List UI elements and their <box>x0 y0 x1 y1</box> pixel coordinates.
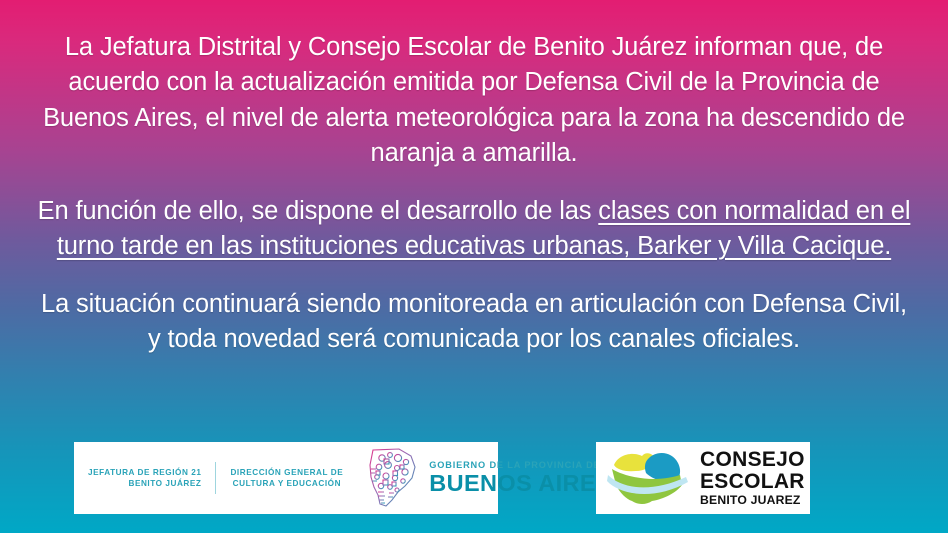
gobierno-pba-logo: GOBIERNO DE LA PROVINCIA DE BUENOS AIRES <box>365 447 612 509</box>
logo-strip: JEFATURA DE REGIÓN 21 BENITO JUÁREZ DIRE… <box>0 433 948 533</box>
consejo-escolar-emblem-icon <box>602 449 694 507</box>
jefatura-line-2: BENITO JUÁREZ <box>88 478 201 489</box>
direccion-general-text: DIRECCIÓN GENERAL DE CULTURA Y EDUCACIÓN <box>216 467 343 489</box>
direccion-line-2: CULTURA Y EDUCACIÓN <box>230 478 343 489</box>
consejo-line-2: ESCOLAR <box>700 471 805 492</box>
message-block: La Jefatura Distrital y Consejo Escolar … <box>0 30 948 358</box>
jefatura-region-text: JEFATURA DE REGIÓN 21 BENITO JUÁREZ <box>88 467 215 489</box>
consejo-line-1: CONSEJO <box>700 449 805 470</box>
provincia-name: BUENOS AIRES <box>429 472 612 496</box>
direccion-line-1: DIRECCIÓN GENERAL DE <box>230 467 343 478</box>
consejo-escolar-text: CONSEJO ESCOLAR BENITO JUAREZ <box>700 449 805 506</box>
gobierno-pba-text: GOBIERNO DE LA PROVINCIA DE BUENOS AIRES <box>429 461 612 496</box>
paragraph-2-plain-text: En función de ello, se dispone el desarr… <box>38 197 599 225</box>
consejo-escolar-logo-card: CONSEJO ESCOLAR BENITO JUAREZ <box>596 442 810 514</box>
gobierno-line: GOBIERNO DE LA PROVINCIA DE <box>429 461 612 470</box>
consejo-line-3: BENITO JUAREZ <box>700 494 805 506</box>
paragraph-alert-downgrade: La Jefatura Distrital y Consejo Escolar … <box>36 30 912 172</box>
paragraph-monitoring: La situación continuará siendo monitorea… <box>36 287 912 358</box>
buenos-aires-province-map-icon <box>365 447 421 509</box>
jefatura-line-1: JEFATURA DE REGIÓN 21 <box>88 467 201 478</box>
paragraph-classes-normal: En función de ello, se dispone el desarr… <box>36 194 912 265</box>
announcement-poster: La Jefatura Distrital y Consejo Escolar … <box>0 0 948 533</box>
dgcye-logo-card: JEFATURA DE REGIÓN 21 BENITO JUÁREZ DIRE… <box>74 442 498 514</box>
